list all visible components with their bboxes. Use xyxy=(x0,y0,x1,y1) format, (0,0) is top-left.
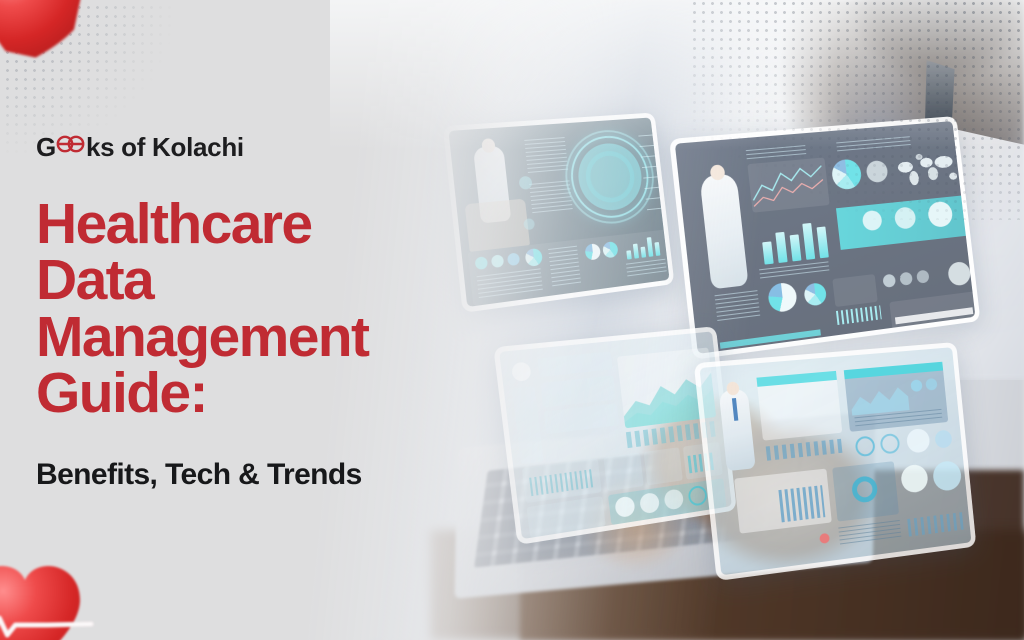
logo-text-after: ks of Kolachi xyxy=(86,132,244,163)
sidebar-menu xyxy=(512,386,544,464)
double-e-infinity-icon xyxy=(56,130,86,156)
logo-text-before: G xyxy=(36,132,56,163)
area-chart xyxy=(849,381,909,416)
data-block xyxy=(715,290,761,322)
bar-chart xyxy=(778,485,825,522)
sparkline xyxy=(836,305,882,325)
page-subtitle: Benefits, Tech & Trends xyxy=(36,458,362,492)
metric-circle xyxy=(900,463,929,493)
bar-chart xyxy=(758,215,836,265)
panel-screen xyxy=(699,347,971,575)
metric-circle xyxy=(947,261,972,287)
bar-chart xyxy=(907,512,966,537)
page-title: Healthcare Data Management Guide: xyxy=(36,196,506,422)
bar-chart xyxy=(766,439,845,461)
mini-chart-card xyxy=(603,452,643,491)
area-chart-svg xyxy=(849,381,909,416)
donut-chart xyxy=(767,282,798,314)
doctor-figure xyxy=(719,389,756,471)
panel-screen xyxy=(499,331,732,539)
kpi-card xyxy=(544,403,619,434)
metric-circle xyxy=(934,429,952,448)
donut-chart xyxy=(879,433,900,455)
metric-circle xyxy=(916,270,930,284)
donut-chart xyxy=(803,282,827,307)
avatar xyxy=(511,362,532,382)
status-dot xyxy=(819,533,830,544)
footer-data-row xyxy=(838,520,901,546)
headline-line-1: Healthcare xyxy=(36,192,312,256)
summary-card xyxy=(527,496,606,538)
headline-line-2: Data xyxy=(36,248,153,312)
kpi-card xyxy=(540,375,616,407)
toolbar xyxy=(537,351,612,377)
headline-line-3: Management xyxy=(36,305,368,369)
stat-text-block xyxy=(524,137,568,174)
text-column: G ks of Kolachi Healthcare Data Manageme… xyxy=(36,0,506,640)
kpi-card xyxy=(832,274,877,307)
metric-circle xyxy=(932,460,963,492)
halftone-dots-top-right xyxy=(690,0,1024,220)
headline-line-4: Guide: xyxy=(36,361,207,425)
chart-caption xyxy=(759,261,829,279)
mini-chart-card xyxy=(644,447,683,485)
metric-circle xyxy=(899,272,913,286)
legend-lines xyxy=(548,246,581,290)
patient-dashboard-panel xyxy=(493,326,737,545)
banner-graphic: G ks of Kolachi Healthcare Data Manageme… xyxy=(0,0,1024,640)
donut-chart xyxy=(855,435,876,457)
clinical-dashboard-panel xyxy=(694,342,977,581)
metric-circle xyxy=(882,274,896,288)
metric-circle xyxy=(906,428,931,454)
metric-bubble xyxy=(523,218,535,230)
brand-logo[interactable]: G ks of Kolachi xyxy=(36,130,244,163)
